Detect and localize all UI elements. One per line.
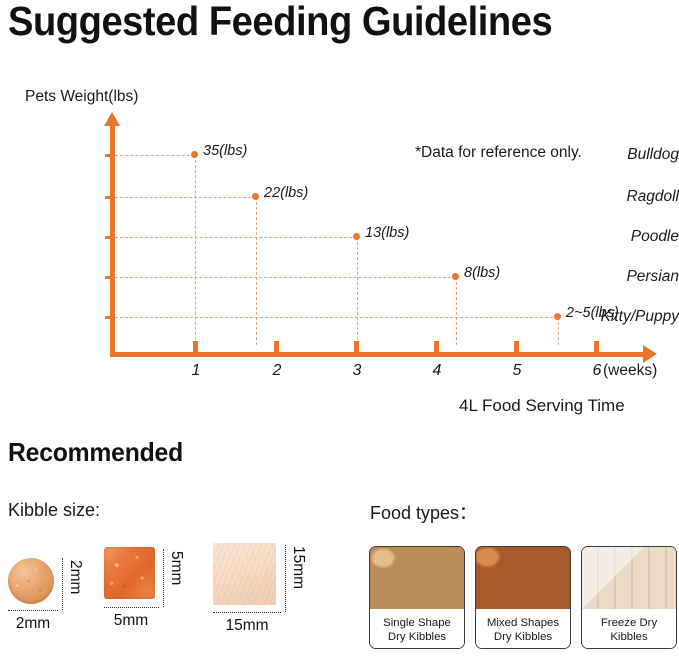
x-tick-mark — [594, 341, 599, 352]
food-type-card-single-shape[interactable]: Single Shape Dry Kibbles — [369, 546, 465, 649]
food-type-caption-line2: Dry Kibbles — [494, 630, 552, 644]
food-type-card-mixed-shapes[interactable]: Mixed Shapes Dry Kibbles — [475, 546, 571, 649]
y-tick-mark — [105, 276, 115, 279]
x-tick-label-1: 1 — [192, 362, 201, 380]
serving-time-label: 4L Food Serving Time — [459, 396, 625, 416]
dim-line-vertical — [62, 558, 63, 610]
drop-line-ragdoll — [256, 197, 257, 345]
data-point-poodle[interactable] — [353, 233, 360, 240]
grid-line-kitty-puppy — [115, 317, 558, 318]
dim-line-horizontal — [8, 610, 58, 611]
drop-line-poodle — [357, 237, 358, 345]
data-point-bulldog[interactable] — [191, 151, 198, 158]
y-tick-label-poodle: Poodle — [575, 228, 679, 246]
y-tick-mark — [105, 316, 115, 319]
grid-line-bulldog — [115, 155, 195, 156]
kibble-swatch-square-orange-icon — [104, 547, 155, 599]
kibble-height-label-2mm: 2mm — [66, 560, 84, 594]
kibble-item-2mm: 2mm 2mm — [8, 558, 88, 638]
food-type-caption: Mixed Shapes Dry Kibbles — [476, 609, 570, 649]
data-label-persian: 8(lbs) — [464, 265, 500, 281]
drop-line-bulldog — [195, 155, 196, 345]
chart-note: *Data for reference only. — [415, 144, 582, 162]
y-tick-mark — [105, 196, 115, 199]
drop-line-persian — [456, 277, 457, 345]
y-tick-mark — [105, 154, 115, 157]
food-type-caption-line2: Dry Kibbles — [388, 630, 446, 644]
kibble-item-5mm: 5mm 5mm — [104, 547, 204, 639]
x-tick-mark — [434, 341, 439, 352]
grid-line-poodle — [115, 237, 357, 238]
data-label-kitty-puppy: 2~5(lbs) — [566, 305, 619, 321]
grid-line-ragdoll — [115, 197, 256, 198]
kibble-width-label-15mm: 15mm — [208, 617, 286, 635]
data-point-persian[interactable] — [452, 273, 459, 280]
food-type-caption-line1: Mixed Shapes — [487, 616, 559, 630]
freeze-dry-kibbles-photo — [582, 547, 676, 609]
dim-line-vertical — [285, 545, 286, 612]
grid-line-persian — [115, 277, 456, 278]
food-type-caption-line1: Single Shape — [383, 616, 451, 630]
kibble-width-label-5mm: 5mm — [100, 612, 162, 630]
x-tick-label-2: 2 — [273, 362, 282, 380]
drop-line-kitty-puppy — [558, 317, 559, 345]
dim-line-vertical — [163, 549, 164, 607]
y-tick-label-bulldog: Bulldog — [575, 146, 679, 164]
y-tick-label-persian: Persian — [575, 268, 679, 286]
x-tick-label-3: 3 — [353, 362, 362, 380]
x-tick-label-6: 6 — [593, 362, 602, 380]
x-axis-unit-label: (weeks) — [603, 362, 657, 380]
kibble-height-label-5mm: 5mm — [167, 551, 185, 585]
kibble-swatch-round-icon — [8, 558, 54, 604]
mixed-shapes-kibbles-photo — [476, 547, 570, 609]
food-type-caption-line1: Freeze Dry — [601, 616, 657, 630]
x-tick-mark — [193, 341, 198, 352]
feeding-chart: Pets Weight(lbs) *Data for reference onl… — [0, 88, 679, 408]
single-shape-kibbles-photo — [370, 547, 464, 609]
data-point-kitty-puppy[interactable] — [554, 313, 561, 320]
x-tick-label-5: 5 — [513, 362, 522, 380]
dim-line-horizontal — [213, 612, 281, 613]
y-tick-mark — [105, 236, 115, 239]
kibble-swatch-square-cream-icon — [213, 543, 276, 605]
data-label-ragdoll: 22(lbs) — [264, 185, 308, 201]
x-tick-mark — [514, 341, 519, 352]
x-tick-label-4: 4 — [433, 362, 442, 380]
x-tick-mark — [274, 341, 279, 352]
x-axis-line — [110, 352, 645, 357]
dim-line-horizontal — [104, 607, 159, 608]
food-type-card-freeze-dry[interactable]: Freeze Dry Kibbles — [581, 546, 677, 649]
x-tick-mark — [354, 341, 359, 352]
food-type-caption: Freeze Dry Kibbles — [582, 609, 676, 649]
kibble-item-15mm: 15mm 15mm — [213, 543, 333, 639]
x-axis-arrow-icon — [643, 345, 657, 363]
food-types-label: Food types： — [370, 499, 477, 525]
recommended-heading: Recommended — [8, 437, 183, 468]
y-axis-line — [110, 123, 115, 355]
food-type-caption: Single Shape Dry Kibbles — [370, 609, 464, 649]
food-type-caption-line2: Kibbles — [610, 630, 647, 644]
data-point-ragdoll[interactable] — [252, 193, 259, 200]
kibble-height-label-15mm: 15mm — [289, 546, 307, 589]
data-label-poodle: 13(lbs) — [365, 225, 409, 241]
data-label-bulldog: 35(lbs) — [203, 143, 247, 159]
page-title: Suggested Feeding Guidelines — [8, 0, 552, 45]
kibble-size-label: Kibble size: — [8, 500, 100, 521]
y-tick-label-ragdoll: Ragdoll — [575, 188, 679, 206]
y-axis-title: Pets Weight(lbs) — [25, 88, 138, 106]
kibble-width-label-2mm: 2mm — [5, 615, 61, 633]
